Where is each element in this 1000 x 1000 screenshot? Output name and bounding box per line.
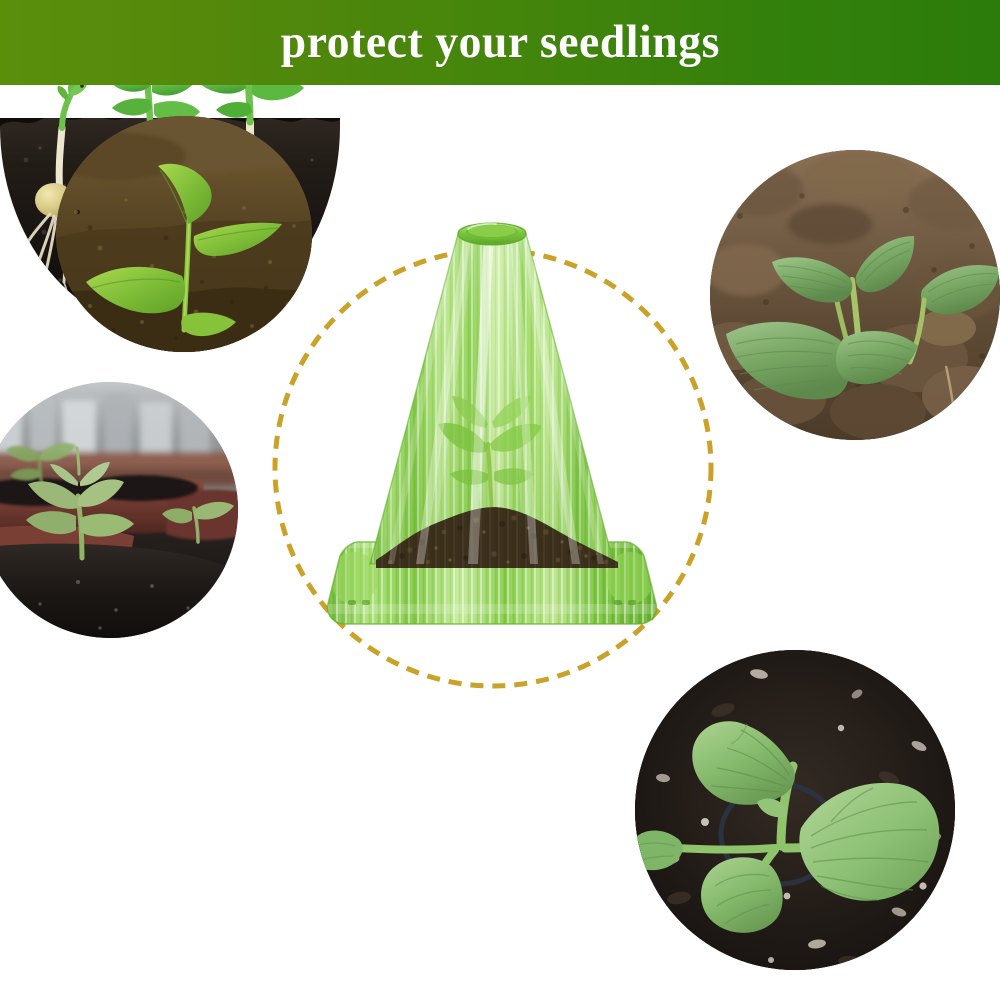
- tomato-pots-art: [0, 382, 238, 638]
- product-seedling-cone: [318, 212, 666, 644]
- seedling-cone-art: [318, 212, 666, 644]
- photo-sprout-soil-image: [56, 116, 312, 352]
- photo-squash-image: [635, 650, 955, 970]
- page-title: protect your seedlings: [280, 19, 719, 66]
- photo-strawberry: [710, 150, 1000, 440]
- photo-tomato-pots-image: [0, 382, 238, 638]
- squash-art: [635, 650, 955, 970]
- sprout-soil-art: [56, 116, 312, 352]
- strawberry-art: [710, 150, 1000, 440]
- photo-tomato-pots: [0, 382, 238, 638]
- photo-squash: [635, 650, 955, 970]
- product-infographic: protect your seedlings: [0, 0, 1000, 1000]
- photo-strawberry-image: [710, 150, 1000, 440]
- photo-sprout-soil: [56, 116, 312, 352]
- header-banner: protect your seedlings: [0, 0, 1000, 85]
- cone-vent-opening: [458, 223, 526, 245]
